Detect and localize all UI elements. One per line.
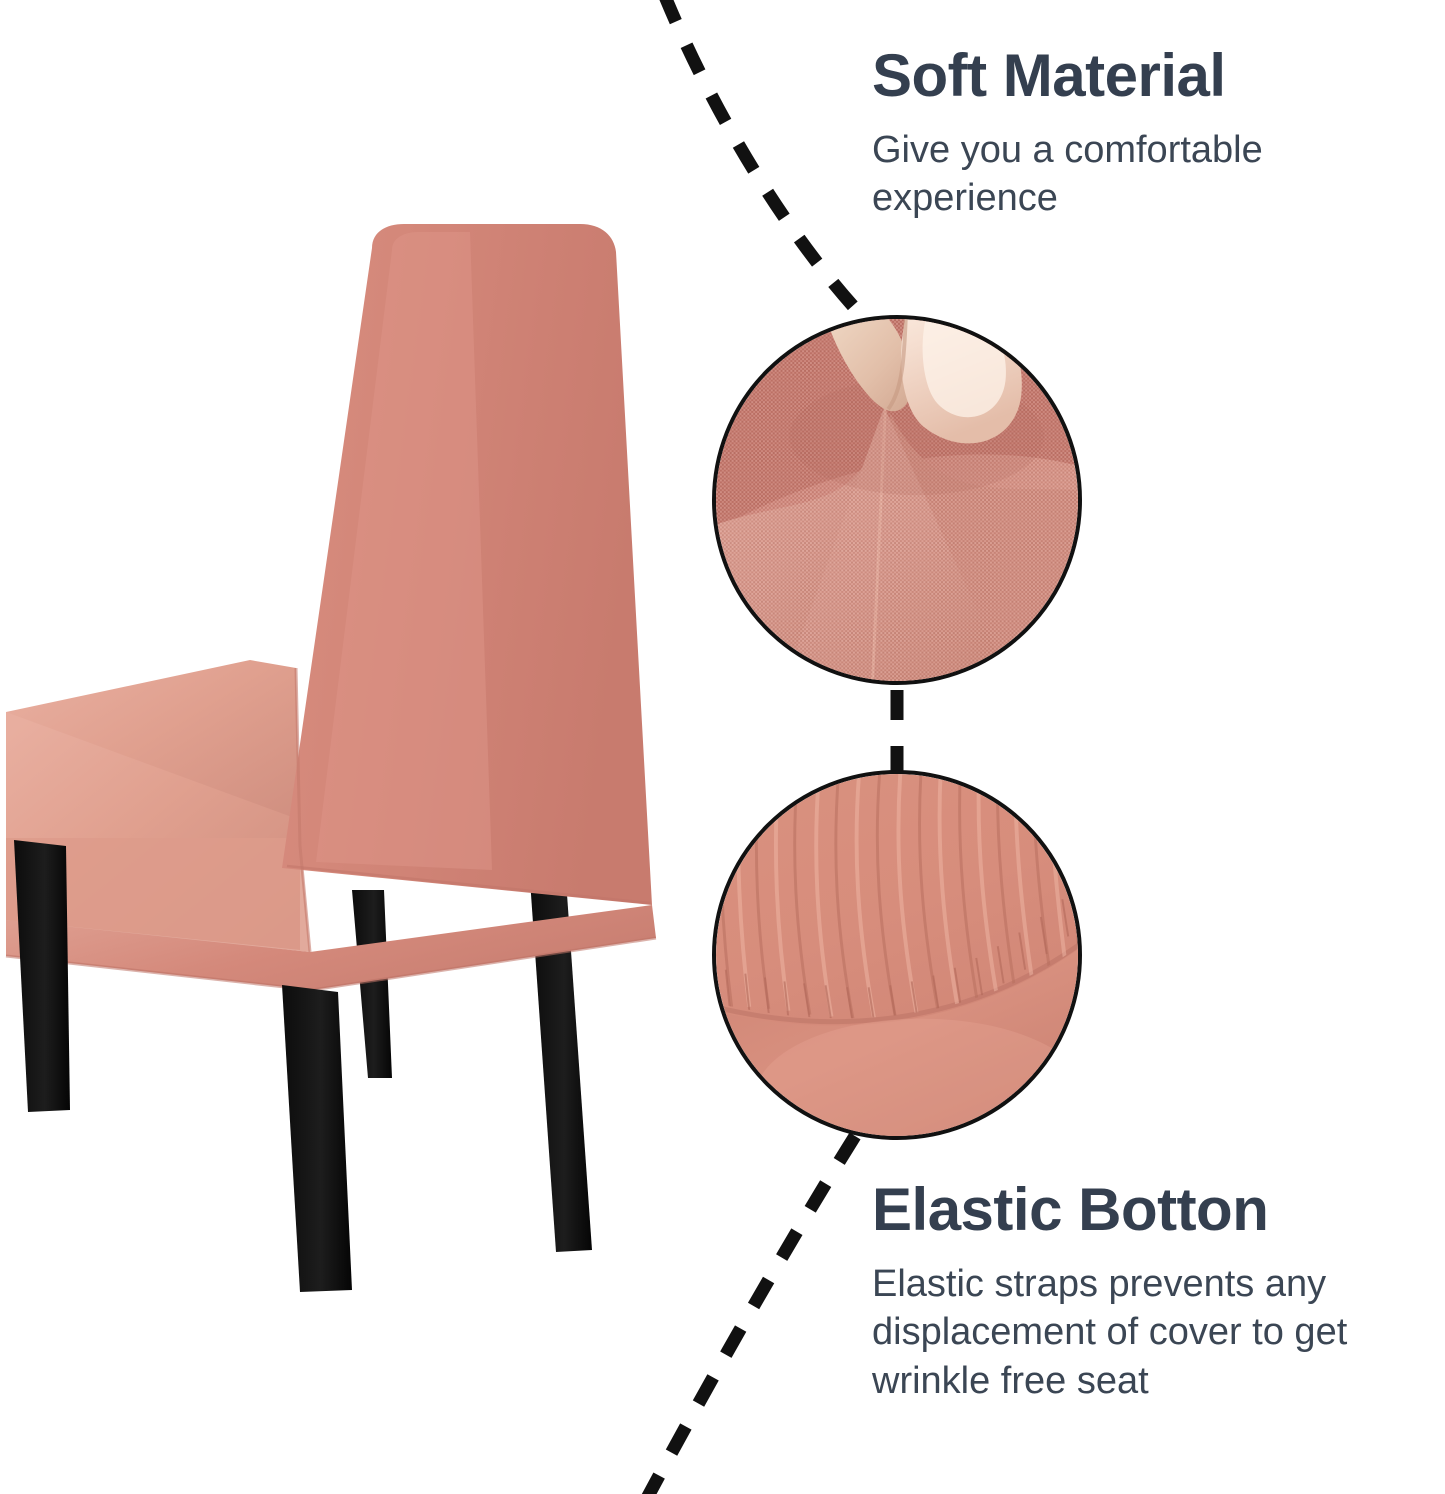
feature-block-elastic-bottom: Elastic Botton Elastic straps prevents a… [872,1178,1412,1405]
chair-illustration [0,0,700,1330]
product-infographic: Soft Material Give you a comfortable exp… [0,0,1445,1494]
feature-description-soft-material: Give you a comfortable experience [872,126,1382,223]
feature-title-elastic-bottom: Elastic Botton [872,1178,1412,1242]
feature-description-elastic-bottom: Elastic straps prevents any displacement… [872,1260,1382,1406]
feature-title-soft-material: Soft Material [872,44,1412,108]
feature-block-soft-material: Soft Material Give you a comfortable exp… [872,44,1412,223]
gathered-elastic-hem-icon [712,770,1082,1140]
pinched-fabric-icon [712,315,1082,685]
